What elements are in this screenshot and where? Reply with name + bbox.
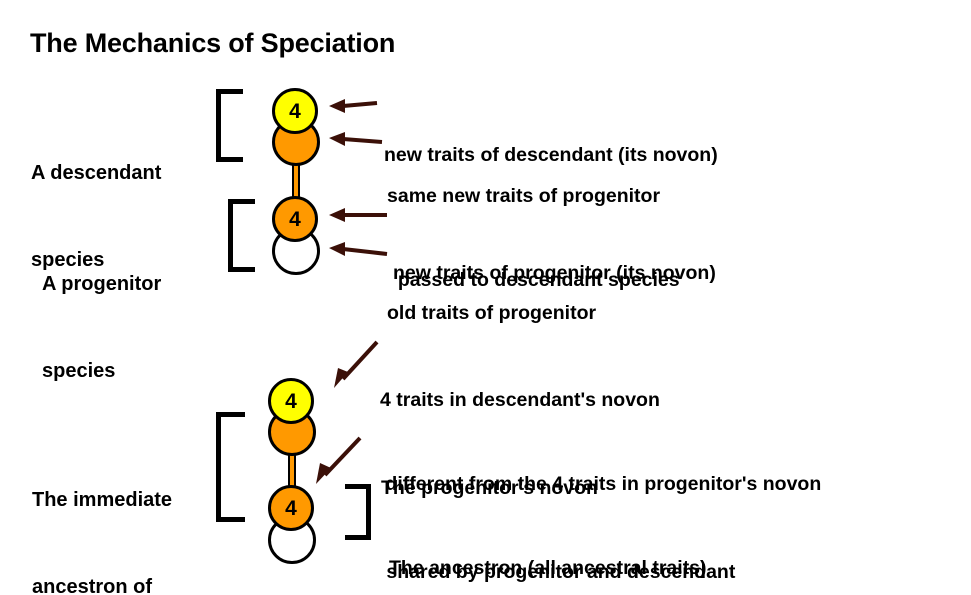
callout-descendant-novon-detail-line1: 4 traits in descendant's novon [380,386,821,414]
descendant-novon-count-bottom: 4 [285,391,297,412]
progenitor-novon-count: 4 [289,209,301,230]
label-immediate-ancestron-line2: ancestron of [32,573,172,595]
progenitor-novon-circle: 4 [272,196,318,242]
label-progenitor-species: A progenitor species [42,212,161,444]
organism-progenitor-bottom: 4 [268,485,320,569]
descendant-novon-circle-bottom: 4 [268,378,314,424]
label-ancestron-text: The ancestron (all ancestral traits) [389,554,707,582]
bracket-descendant-species [216,89,243,162]
organism-progenitor-top: 4 [272,196,324,280]
callout-old-traits-line1: old traits of progenitor [387,299,596,327]
progenitor-novon-circle-bottom: 4 [268,485,314,531]
label-descendant-species-line1: A descendant [31,159,161,188]
label-immediate-ancestron-line1: The immediate [32,486,172,515]
arrow-diagonal-1-icon [333,338,381,388]
arrow-left-3-icon [329,205,389,225]
label-ancestron: The ancestron (all ancestral traits) [389,498,707,595]
diagram-canvas: The Mechanics of Speciation A descendant… [0,0,971,595]
arrow-left-2-icon [329,130,384,150]
arrow-diagonal-2-icon [312,434,364,486]
label-progenitor-species-line1: A progenitor [42,270,161,299]
descendant-novon-count: 4 [289,101,301,122]
label-immediate-ancestron: The immediate ancestron of traits [32,428,172,595]
bracket-progenitor-species [228,199,255,272]
organism-descendant-top: 4 [272,88,324,172]
bracket-ancestron [345,484,371,540]
page-title: The Mechanics of Speciation [30,28,395,59]
bracket-immediate-ancestron [216,412,245,522]
label-progenitor-species-line2: species [42,357,161,386]
arrow-left-1-icon [329,95,379,115]
progenitor-novon-count-bottom: 4 [285,498,297,519]
arrow-left-4-icon [329,238,389,262]
descendant-novon-circle: 4 [272,88,318,134]
